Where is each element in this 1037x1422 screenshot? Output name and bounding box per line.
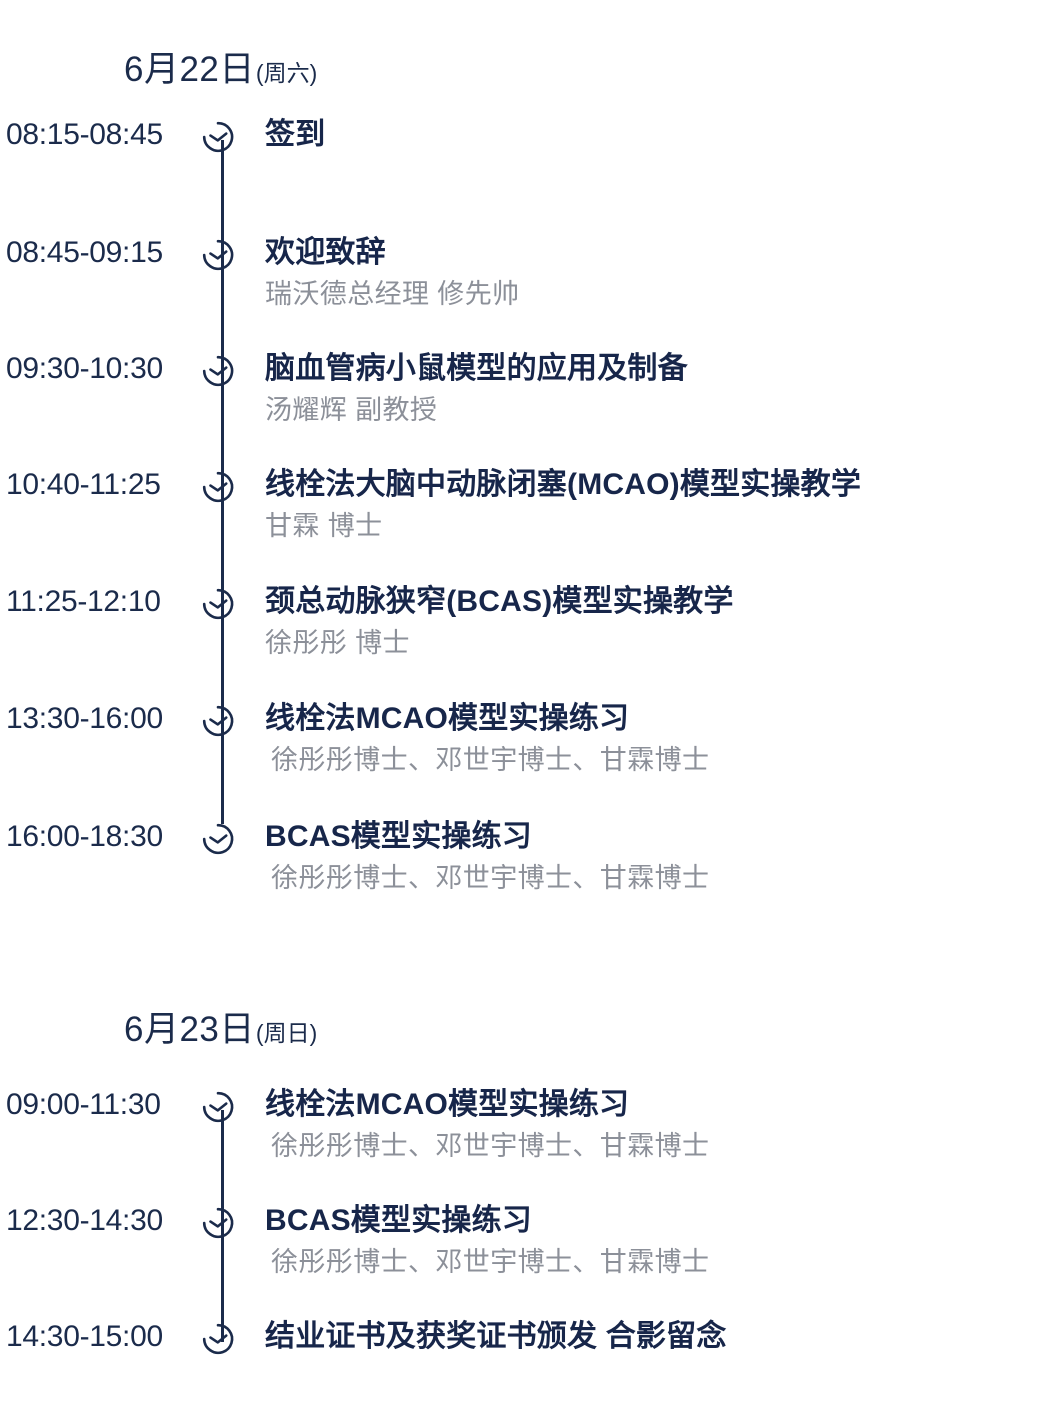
timeline-marker [190, 704, 265, 738]
session-time: 16:00-18:30 [0, 822, 190, 852]
session-speakers: 汤耀辉 副教授 [265, 397, 1037, 424]
session-speakers: 徐彤彤博士、邓世宇博士、甘霖博士 [265, 747, 1037, 774]
session-title: 线栓法MCAO模型实操练习 [265, 704, 1037, 734]
session-title: BCAS模型实操练习 [265, 822, 1037, 852]
timeline-day-1: 08:15-08:45 签到 08:45-09:15 [0, 120, 1037, 934]
session-row[interactable]: 14:30-15:00 结业证书及获奖证书颁发 合影留念 [0, 1322, 1037, 1422]
session-speakers: 徐彤彤 博士 [265, 630, 1037, 657]
session-speakers: 徐彤彤博士、邓世宇博士、甘霖博士 [265, 1249, 1037, 1276]
session-time: 08:45-09:15 [0, 238, 190, 268]
timeline-marker [190, 238, 265, 272]
session-body: 脑血管病小鼠模型的应用及制备 汤耀辉 副教授 [265, 354, 1037, 424]
session-body: 线栓法MCAO模型实操练习 徐彤彤博士、邓世宇博士、甘霖博士 [265, 1090, 1037, 1160]
session-title: 脑血管病小鼠模型的应用及制备 [265, 354, 1037, 384]
session-speakers: 瑞沃德总经理 修先帅 [265, 281, 1037, 308]
session-time: 13:30-16:00 [0, 704, 190, 734]
clock-icon [201, 587, 235, 621]
clock-icon [201, 1090, 235, 1124]
session-time: 12:30-14:30 [0, 1206, 190, 1236]
session-title: 线栓法大脑中动脉闭塞(MCAO)模型实操教学 [265, 470, 1037, 500]
session-time: 10:40-11:25 [0, 470, 190, 500]
timeline-marker [190, 1322, 265, 1356]
session-speakers: 徐彤彤博士、邓世宇博士、甘霖博士 [265, 865, 1037, 892]
session-row[interactable]: 09:30-10:30 脑血管病小鼠模型的应用及制备 汤耀辉 副教授 [0, 354, 1037, 470]
clock-icon [201, 704, 235, 738]
agenda-page: 6月22日(周六) 08:15-08:45 签到 [0, 0, 1037, 1414]
timeline-marker [190, 587, 265, 621]
session-speakers: 甘霖 博士 [265, 513, 1037, 540]
clock-icon [201, 120, 235, 154]
timeline-marker [190, 470, 265, 504]
session-time: 14:30-15:00 [0, 1322, 190, 1352]
session-body: 签到 [265, 120, 1037, 150]
clock-icon [201, 470, 235, 504]
session-row[interactable]: 08:15-08:45 签到 [0, 120, 1037, 238]
session-row[interactable]: 09:00-11:30 线栓法MCAO模型实操练习 徐彤彤博士、邓世宇博士、甘霖… [0, 1090, 1037, 1206]
session-body: 结业证书及获奖证书颁发 合影留念 [265, 1322, 1037, 1352]
session-row[interactable]: 08:45-09:15 欢迎致辞 瑞沃德总经理 修先帅 [0, 238, 1037, 354]
session-title: BCAS模型实操练习 [265, 1206, 1037, 1236]
session-time: 09:30-10:30 [0, 354, 190, 384]
timeline-marker [190, 354, 265, 388]
day-header-2: 6月23日(周日) [0, 1012, 1037, 1047]
day-header-1: 6月22日(周六) [0, 52, 1037, 87]
session-title: 欢迎致辞 [265, 238, 1037, 268]
session-body: 欢迎致辞 瑞沃德总经理 修先帅 [265, 238, 1037, 308]
clock-icon [201, 1206, 235, 1240]
session-speakers: 徐彤彤博士、邓世宇博士、甘霖博士 [265, 1133, 1037, 1160]
clock-icon [201, 822, 235, 856]
clock-icon [201, 238, 235, 272]
session-body: 线栓法MCAO模型实操练习 徐彤彤博士、邓世宇博士、甘霖博士 [265, 704, 1037, 774]
timeline-marker [190, 1206, 265, 1240]
day-block-2: 6月23日(周日) 09:00-11:30 线栓法MCAO模型实操练习 徐彤彤博… [0, 1012, 1037, 1422]
session-row[interactable]: 12:30-14:30 BCAS模型实操练习 徐彤彤博士、邓世宇博士、甘霖博士 [0, 1206, 1037, 1322]
session-body: 线栓法大脑中动脉闭塞(MCAO)模型实操教学 甘霖 博士 [265, 470, 1037, 540]
clock-icon [201, 354, 235, 388]
session-title: 签到 [265, 120, 1037, 150]
session-time: 09:00-11:30 [0, 1090, 190, 1120]
day-date-week: (周六) [256, 60, 317, 86]
session-row[interactable]: 16:00-18:30 BCAS模型实操练习 徐彤彤博士、邓世宇博士、甘霖博士 [0, 822, 1037, 934]
session-title: 线栓法MCAO模型实操练习 [265, 1090, 1037, 1120]
session-row[interactable]: 10:40-11:25 线栓法大脑中动脉闭塞(MCAO)模型实操教学 甘霖 博士 [0, 470, 1037, 587]
session-time: 11:25-12:10 [0, 587, 190, 617]
session-body: BCAS模型实操练习 徐彤彤博士、邓世宇博士、甘霖博士 [265, 1206, 1037, 1276]
session-title: 颈总动脉狭窄(BCAS)模型实操教学 [265, 587, 1037, 617]
day-date-main: 6月23日 [124, 1010, 255, 1049]
day-date-week: (周日) [256, 1020, 317, 1046]
timeline-day-2: 09:00-11:30 线栓法MCAO模型实操练习 徐彤彤博士、邓世宇博士、甘霖… [0, 1090, 1037, 1422]
timeline-marker [190, 822, 265, 856]
timeline-marker [190, 1090, 265, 1124]
session-row[interactable]: 11:25-12:10 颈总动脉狭窄(BCAS)模型实操教学 徐彤彤 博士 [0, 587, 1037, 704]
session-body: 颈总动脉狭窄(BCAS)模型实操教学 徐彤彤 博士 [265, 587, 1037, 657]
day-date-main: 6月22日 [124, 50, 255, 89]
clock-icon [201, 1322, 235, 1356]
session-title: 结业证书及获奖证书颁发 合影留念 [265, 1322, 1037, 1352]
timeline-marker [190, 120, 265, 154]
session-time: 08:15-08:45 [0, 120, 190, 150]
day-block-1: 6月22日(周六) 08:15-08:45 签到 [0, 52, 1037, 934]
session-body: BCAS模型实操练习 徐彤彤博士、邓世宇博士、甘霖博士 [265, 822, 1037, 892]
session-row[interactable]: 13:30-16:00 线栓法MCAO模型实操练习 徐彤彤博士、邓世宇博士、甘霖… [0, 704, 1037, 822]
